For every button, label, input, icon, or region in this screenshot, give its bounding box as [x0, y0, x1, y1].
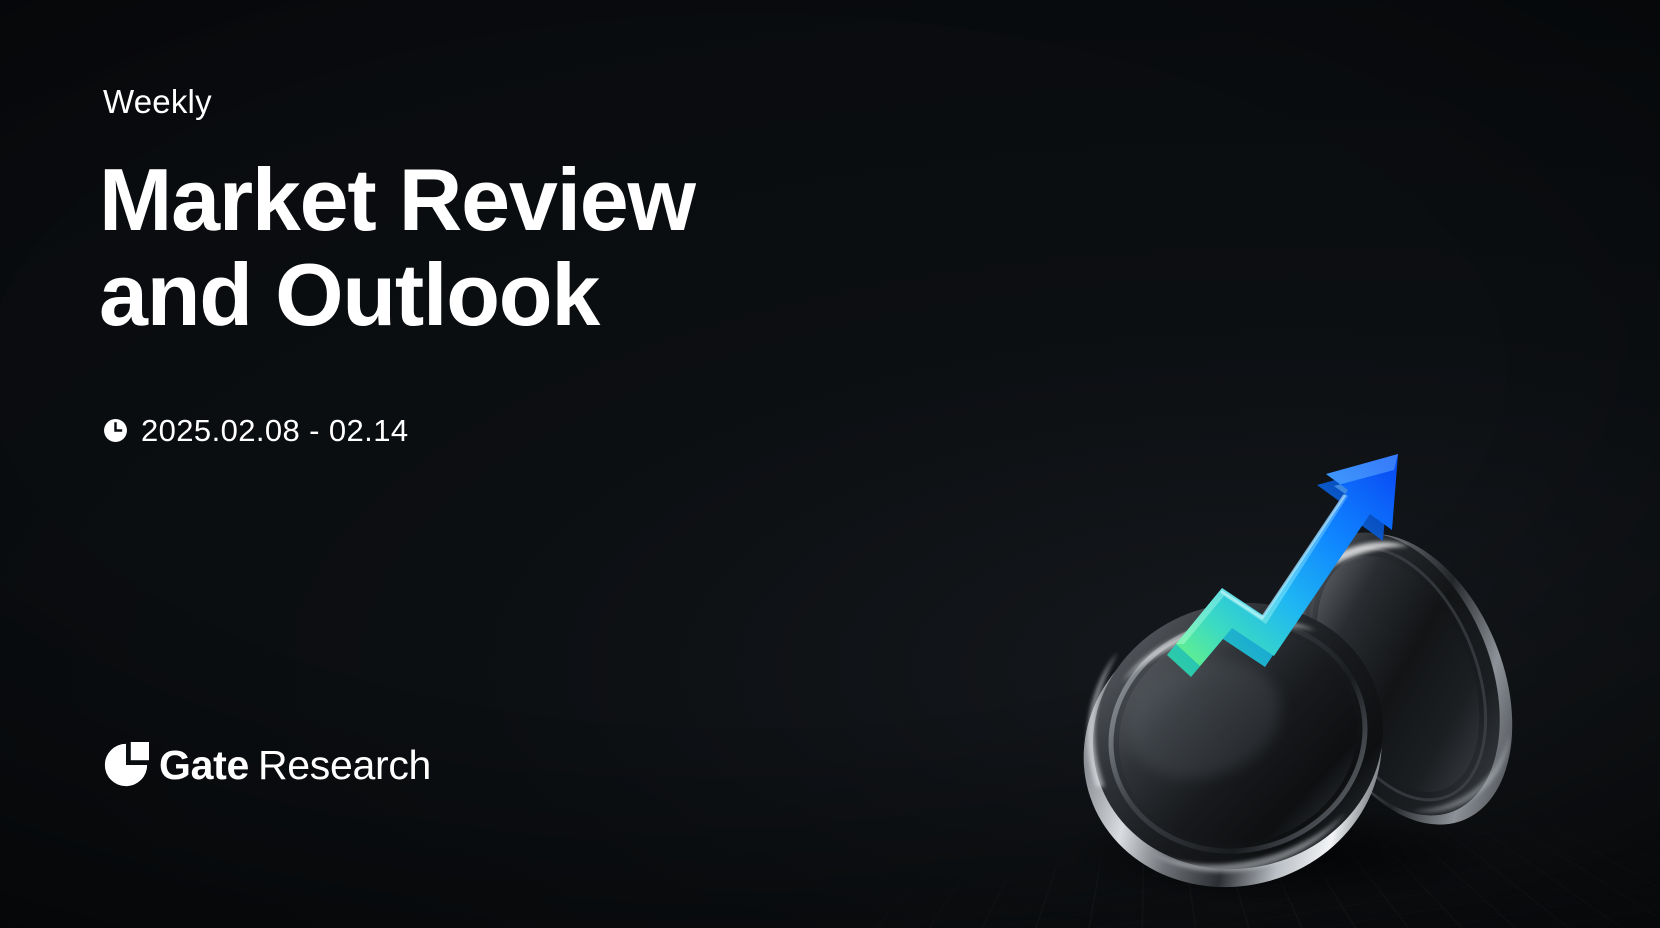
gate-research-logo: GateResearch — [103, 742, 431, 788]
logo-wordmark: GateResearch — [159, 745, 431, 786]
banner-content: Weekly Market Review and Outlook 2025.02… — [103, 0, 963, 928]
clock-icon — [103, 418, 128, 443]
date-range-text: 2025.02.08 - 02.14 — [141, 415, 408, 446]
eyebrow-label: Weekly — [103, 84, 212, 120]
date-range-row: 2025.02.08 - 02.14 — [103, 415, 408, 446]
logo-brand: Gate — [159, 742, 249, 788]
weekly-report-banner: Weekly Market Review and Outlook 2025.02… — [0, 0, 1660, 928]
logo-suffix: Research — [258, 742, 431, 788]
page-title: Market Review and Outlook — [99, 152, 695, 342]
gate-logo-mark — [103, 742, 149, 788]
